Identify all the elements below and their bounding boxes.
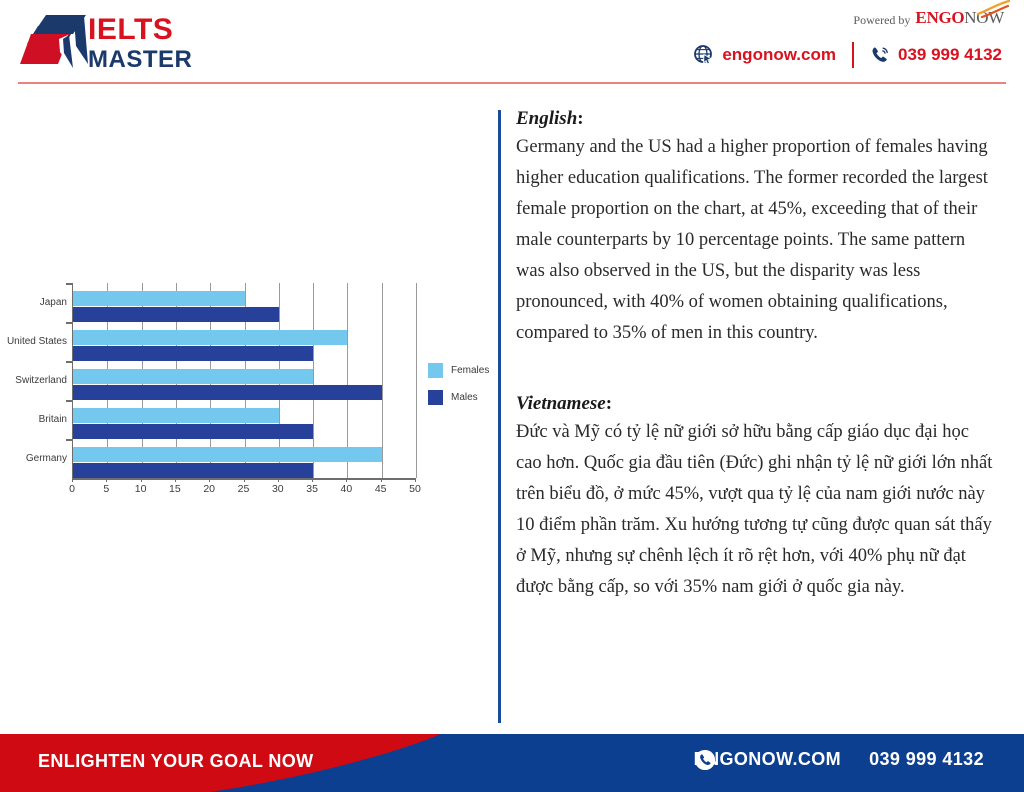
chart-x-tick-label: 20 bbox=[203, 483, 215, 495]
column-divider bbox=[498, 110, 501, 723]
chart-x-tick-label: 50 bbox=[409, 483, 421, 495]
chart-x-tick-label: 10 bbox=[135, 483, 147, 495]
ielts-master-logo-icon bbox=[18, 12, 90, 72]
footer-website-link[interactable]: ENGONOW.COM bbox=[694, 749, 841, 770]
chart-bar bbox=[73, 408, 279, 423]
vietnamese-heading-text: Vietnamese bbox=[516, 393, 606, 414]
english-heading-colon: : bbox=[577, 108, 583, 129]
legend-swatch bbox=[428, 363, 443, 378]
chart-category-label: United States bbox=[7, 336, 67, 347]
chart-gridline bbox=[416, 283, 417, 478]
chart-bar bbox=[73, 346, 313, 361]
chart-bar bbox=[73, 291, 245, 306]
chart-x-tick bbox=[381, 478, 382, 482]
footer-website-text: ENGONOW.COM bbox=[694, 749, 841, 770]
chart-x-tick-label: 25 bbox=[238, 483, 250, 495]
english-heading: English: bbox=[516, 108, 996, 130]
chart-x-tick bbox=[346, 478, 347, 482]
chart-category-label: Germany bbox=[26, 453, 67, 464]
poster-page: IELTS MASTER Powered by ENGONOW bbox=[0, 0, 1024, 792]
chart-bar bbox=[73, 447, 382, 462]
powered-by-engonow: Powered by ENGONOW bbox=[853, 8, 1004, 28]
chart-bar bbox=[73, 385, 382, 400]
footer-phone-link[interactable]: 039 999 4132 bbox=[869, 749, 984, 770]
chart-x-tick bbox=[106, 478, 107, 482]
chart-x-tick bbox=[244, 478, 245, 482]
legend-label: Males bbox=[451, 392, 478, 403]
vietnamese-heading-colon: : bbox=[606, 393, 612, 414]
footer-contact-group: ENGONOW.COM 039 999 4132 bbox=[694, 749, 984, 770]
chart-x-tick-label: 40 bbox=[341, 483, 353, 495]
english-heading-text: English bbox=[516, 108, 577, 129]
header-divider-rule bbox=[18, 82, 1006, 84]
vietnamese-heading: Vietnamese: bbox=[516, 393, 996, 415]
chart-category-label: Britain bbox=[39, 414, 67, 425]
header-contact-group: engonow.com 039 999 4132 bbox=[694, 42, 1002, 68]
page-header: IELTS MASTER Powered by ENGONOW bbox=[0, 0, 1024, 86]
chart-plot-area bbox=[72, 283, 415, 478]
chart-x-tick bbox=[415, 478, 416, 482]
chart-x-tick bbox=[72, 478, 73, 482]
logo-line-ielts: IELTS bbox=[88, 15, 192, 45]
chart-y-tick bbox=[66, 439, 72, 441]
panel-spacer bbox=[516, 349, 996, 393]
chart-y-tick bbox=[66, 283, 72, 285]
legend-item: Males bbox=[428, 390, 489, 405]
swoosh-icon bbox=[976, 0, 1010, 18]
header-phone-text: 039 999 4132 bbox=[898, 45, 1002, 65]
vietnamese-body: Đức và Mỹ có tỷ lệ nữ giới sở hữu bằng c… bbox=[516, 417, 996, 603]
bar-chart: JapanUnited StatesSwitzerlandBritainGerm… bbox=[0, 283, 430, 508]
footer-slogan: ENLIGHTEN YOUR GOAL NOW bbox=[38, 751, 314, 772]
chart-x-tick bbox=[312, 478, 313, 482]
chart-x-tick-labels: 05101520253035404550 bbox=[72, 483, 416, 503]
chart-legend: FemalesMales bbox=[428, 363, 489, 417]
chart-gridline bbox=[382, 283, 383, 478]
phone-icon bbox=[694, 749, 716, 771]
chart-category-label: Japan bbox=[40, 297, 67, 308]
globe-cursor-icon bbox=[694, 45, 714, 65]
legend-swatch bbox=[428, 390, 443, 405]
chart-bar bbox=[73, 369, 313, 384]
chart-bar bbox=[73, 463, 313, 478]
chart-x-tick bbox=[209, 478, 210, 482]
chart-x-tick-label: 0 bbox=[69, 483, 75, 495]
header-website-text: engonow.com bbox=[722, 45, 836, 65]
chart-x-tick-label: 35 bbox=[306, 483, 318, 495]
chart-y-tick bbox=[66, 400, 72, 402]
chart-category-label: Switzerland bbox=[15, 375, 67, 386]
footer-phone-text: 039 999 4132 bbox=[869, 749, 984, 770]
english-body: Germany and the US had a higher proporti… bbox=[516, 132, 996, 349]
chart-x-tick-label: 45 bbox=[375, 483, 387, 495]
phone-icon bbox=[870, 45, 890, 65]
chart-bar bbox=[73, 307, 279, 322]
chart-bar bbox=[73, 424, 313, 439]
chart-y-tick bbox=[66, 361, 72, 363]
chart-x-tick bbox=[175, 478, 176, 482]
legend-label: Females bbox=[451, 365, 489, 376]
explanation-panel: English: Germany and the US had a higher… bbox=[516, 108, 996, 603]
chart-x-tick-label: 5 bbox=[103, 483, 109, 495]
engonow-brand-engo: ENGO bbox=[915, 8, 964, 27]
chart-x-tick bbox=[278, 478, 279, 482]
powered-by-label: Powered by bbox=[853, 13, 910, 28]
chart-category-labels: JapanUnited StatesSwitzerlandBritainGerm… bbox=[0, 283, 70, 478]
chart-y-tick bbox=[66, 322, 72, 324]
header-website-link[interactable]: engonow.com bbox=[694, 45, 836, 65]
logo-line-master: MASTER bbox=[88, 47, 192, 73]
chart-x-tick-label: 15 bbox=[169, 483, 181, 495]
legend-item: Females bbox=[428, 363, 489, 378]
chart-x-tick-label: 30 bbox=[272, 483, 284, 495]
header-phone-link[interactable]: 039 999 4132 bbox=[870, 45, 1002, 65]
logo-wordmark: IELTS MASTER bbox=[88, 15, 192, 73]
header-contact-divider bbox=[852, 42, 854, 68]
brand-logo[interactable]: IELTS MASTER bbox=[18, 12, 218, 74]
chart-x-tick bbox=[141, 478, 142, 482]
chart-bar bbox=[73, 330, 347, 345]
page-footer: ENLIGHTEN YOUR GOAL NOW ENGONOW.COM 039 … bbox=[0, 734, 1024, 792]
